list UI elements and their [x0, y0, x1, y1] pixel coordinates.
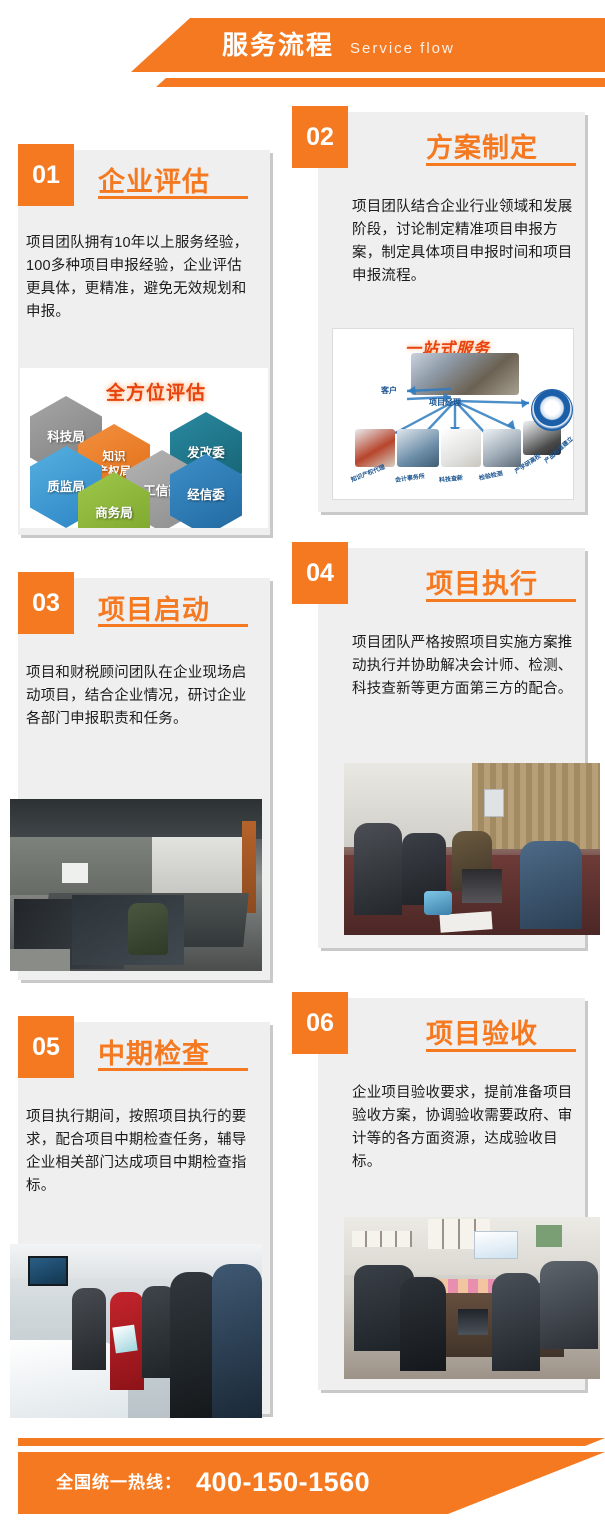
step-badge-02: 02 [292, 106, 348, 168]
whiteboard [62, 863, 88, 883]
projector-screen [474, 1231, 518, 1259]
one-stop-label-pm: 项目经理 [429, 397, 461, 408]
one-stop-photo-tech [441, 429, 481, 467]
green-board [536, 1225, 562, 1247]
step-title-rule-05 [98, 1068, 248, 1071]
step-body-01: 项目团队拥有10年以上服务经验，100多种项目申报经验，企业评估更具体，更精准，… [26, 232, 250, 324]
step-badge-05: 05 [18, 1016, 74, 1078]
ac-unit [484, 789, 504, 817]
brochure [112, 1325, 137, 1354]
photo-showroom-visit [10, 1244, 262, 1418]
step-title-rule-02 [426, 163, 576, 166]
step-title-03: 项目启动 [98, 588, 210, 627]
step-title-04: 项目执行 [426, 562, 538, 601]
step-badge-04: 04 [292, 542, 348, 604]
one-stop-photo-inspection [483, 429, 521, 467]
step-body-03: 项目和财税顾问团队在企业现场启动项目，结合企业情况，研讨企业各部门申报职责和任务… [26, 662, 250, 731]
photo-conference-room [10, 799, 262, 971]
attendee-foreground-left [400, 1277, 446, 1371]
page-header: 服务流程 Service flow [0, 0, 605, 110]
photo-boardroom-presentation [344, 1217, 600, 1379]
step-title-rule-04 [426, 599, 576, 602]
step-badge-01: 01 [18, 144, 74, 206]
footer-accent-line [18, 1438, 605, 1446]
floor-area [10, 949, 70, 971]
one-stop-label-kehu: 客户 [381, 385, 397, 396]
hex-node-label: 科技局 [47, 430, 85, 445]
person-left-foreground [354, 823, 402, 915]
step-title-02: 方案制定 [426, 126, 538, 165]
laptop-on-table [458, 1309, 488, 1335]
step-badge-06: 06 [292, 992, 348, 1054]
step-title-01: 企业评估 [98, 160, 210, 199]
step-title-rule-01 [98, 196, 248, 199]
one-stop-photo-accounting [397, 429, 439, 467]
laptop-center [462, 869, 502, 903]
step-body-02: 项目团队结合企业行业领域和发展阶段，讨论制定精准项目申报方案，制定具体项目申报时… [352, 196, 574, 288]
step-badge-03: 03 [18, 572, 74, 634]
visitor-man-left [72, 1288, 106, 1370]
step-body-06: 企业项目验收要求，提前准备项目验收方案，协调验收需要政府、审计等的各方面资源，达… [352, 1082, 574, 1174]
footer-hotline-number[interactable]: 400-150-1560 [196, 1463, 370, 1501]
header-accent-line [0, 78, 605, 87]
ceiling-panel [10, 799, 262, 839]
step-title-06: 项目验收 [426, 1012, 538, 1051]
step-body-05: 项目执行期间，按照项目执行的要求，配合项目中期检查任务，辅导企业相关部门达成项目… [26, 1106, 250, 1198]
page-title: 服务流程 [222, 26, 334, 64]
visitor-foreground-blue [212, 1264, 262, 1418]
hex-diagram-title: 全方位评估 [106, 378, 206, 405]
footer-hotline-label: 全国统一热线： [56, 1470, 182, 1496]
step-title-rule-03 [98, 624, 248, 627]
one-stop-photo-ip [355, 429, 395, 467]
attendee-foreground-right [492, 1273, 540, 1371]
photo-meeting-laptops [344, 763, 600, 935]
side-wall [152, 837, 248, 895]
visitor-foreground-dark [170, 1272, 218, 1418]
attendee-right-row [540, 1261, 598, 1349]
one-stop-diagram: 一站式服务 客户 项目经理 知识产权代理 会计事务所 科技查新 检验检 [332, 328, 574, 500]
step-title-05: 中期检查 [98, 1032, 210, 1071]
wall-monitor [28, 1256, 68, 1286]
hex-node-label: 经信委 [187, 488, 225, 503]
step-title-rule-06 [426, 1049, 576, 1052]
person-right-blue [520, 841, 582, 929]
equipment-box [424, 891, 452, 915]
green-jacket-person [128, 903, 168, 955]
framed-certificates-left [352, 1231, 412, 1247]
one-stop-certification-seal [531, 389, 573, 431]
hex-node-label: 商务局 [95, 506, 133, 521]
page-subtitle: Service flow [350, 36, 455, 62]
step-body-04: 项目团队严格按照项目实施方案推动执行并协助解决会计师、检测、科技查新等更方面第三… [352, 632, 574, 701]
hex-diagram: 全方位评估 科技局 知识产权局 发改委 质监局 工信部 经信委 商务局 [20, 368, 268, 528]
